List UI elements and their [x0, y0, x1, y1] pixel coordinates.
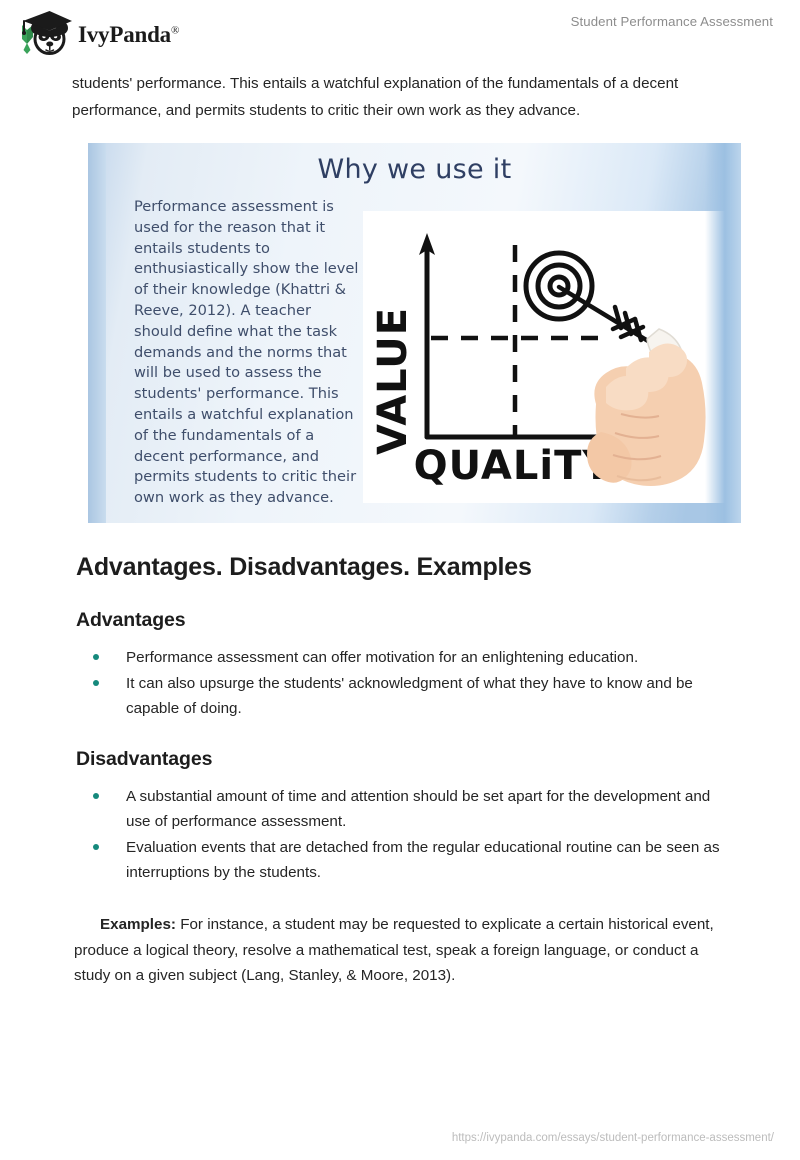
- registered-trademark-icon: ®: [171, 24, 179, 36]
- intro-paragraph: students' performance. This entails a wa…: [72, 70, 728, 124]
- slide-photo: VALUE QUALiTY: [363, 211, 725, 503]
- examples-label: Examples:: [100, 916, 176, 933]
- list-item-text: Performance assessment can offer motivat…: [126, 649, 638, 666]
- list-item: A substantial amount of time and attenti…: [72, 784, 728, 834]
- bullet-dot-icon: [93, 844, 99, 850]
- slide-title: Why we use it: [88, 154, 741, 185]
- bullet-dot-icon: [93, 680, 99, 686]
- section-main-heading: Advantages. Disadvantages. Examples: [76, 553, 728, 582]
- slide-body-text: Performance assessment is used for the r…: [134, 197, 360, 509]
- page-footer-url[interactable]: https://ivypanda.com/essays/student-perf…: [0, 1132, 774, 1144]
- list-item-text: Evaluation events that are detached from…: [126, 839, 720, 881]
- chart-x-label: QUALiTY: [414, 443, 613, 489]
- advantages-heading: Advantages: [76, 609, 728, 632]
- disadvantages-heading: Disadvantages: [76, 748, 728, 771]
- page-header: IvyPanda® Student Performance Assessment: [0, 0, 800, 62]
- bullet-dot-icon: [93, 654, 99, 660]
- brand-logo[interactable]: IvyPanda®: [14, 8, 179, 60]
- list-item: It can also upsurge the students' acknow…: [72, 671, 728, 721]
- list-item-text: A substantial amount of time and attenti…: [126, 788, 710, 830]
- brand-name: IvyPanda®: [78, 22, 179, 48]
- examples-paragraph: Examples: For instance, a student may be…: [74, 912, 728, 989]
- disadvantages-list: A substantial amount of time and attenti…: [72, 784, 728, 885]
- list-item: Evaluation events that are detached from…: [72, 835, 728, 885]
- slide-figure: Why we use it Performance assessment is …: [88, 143, 741, 523]
- chart-y-label: VALUE: [370, 307, 416, 455]
- advantages-list: Performance assessment can offer motivat…: [72, 645, 728, 721]
- panda-graduate-logo-icon: [14, 8, 72, 60]
- list-item: Performance assessment can offer motivat…: [72, 645, 728, 670]
- document-content: students' performance. This entails a wa…: [72, 70, 728, 989]
- bullet-dot-icon: [93, 793, 99, 799]
- list-item-text: It can also upsurge the students' acknow…: [126, 675, 693, 717]
- value-quality-chart-illustration: VALUE QUALiTY: [363, 211, 725, 503]
- document-title: Student Performance Assessment: [571, 14, 773, 29]
